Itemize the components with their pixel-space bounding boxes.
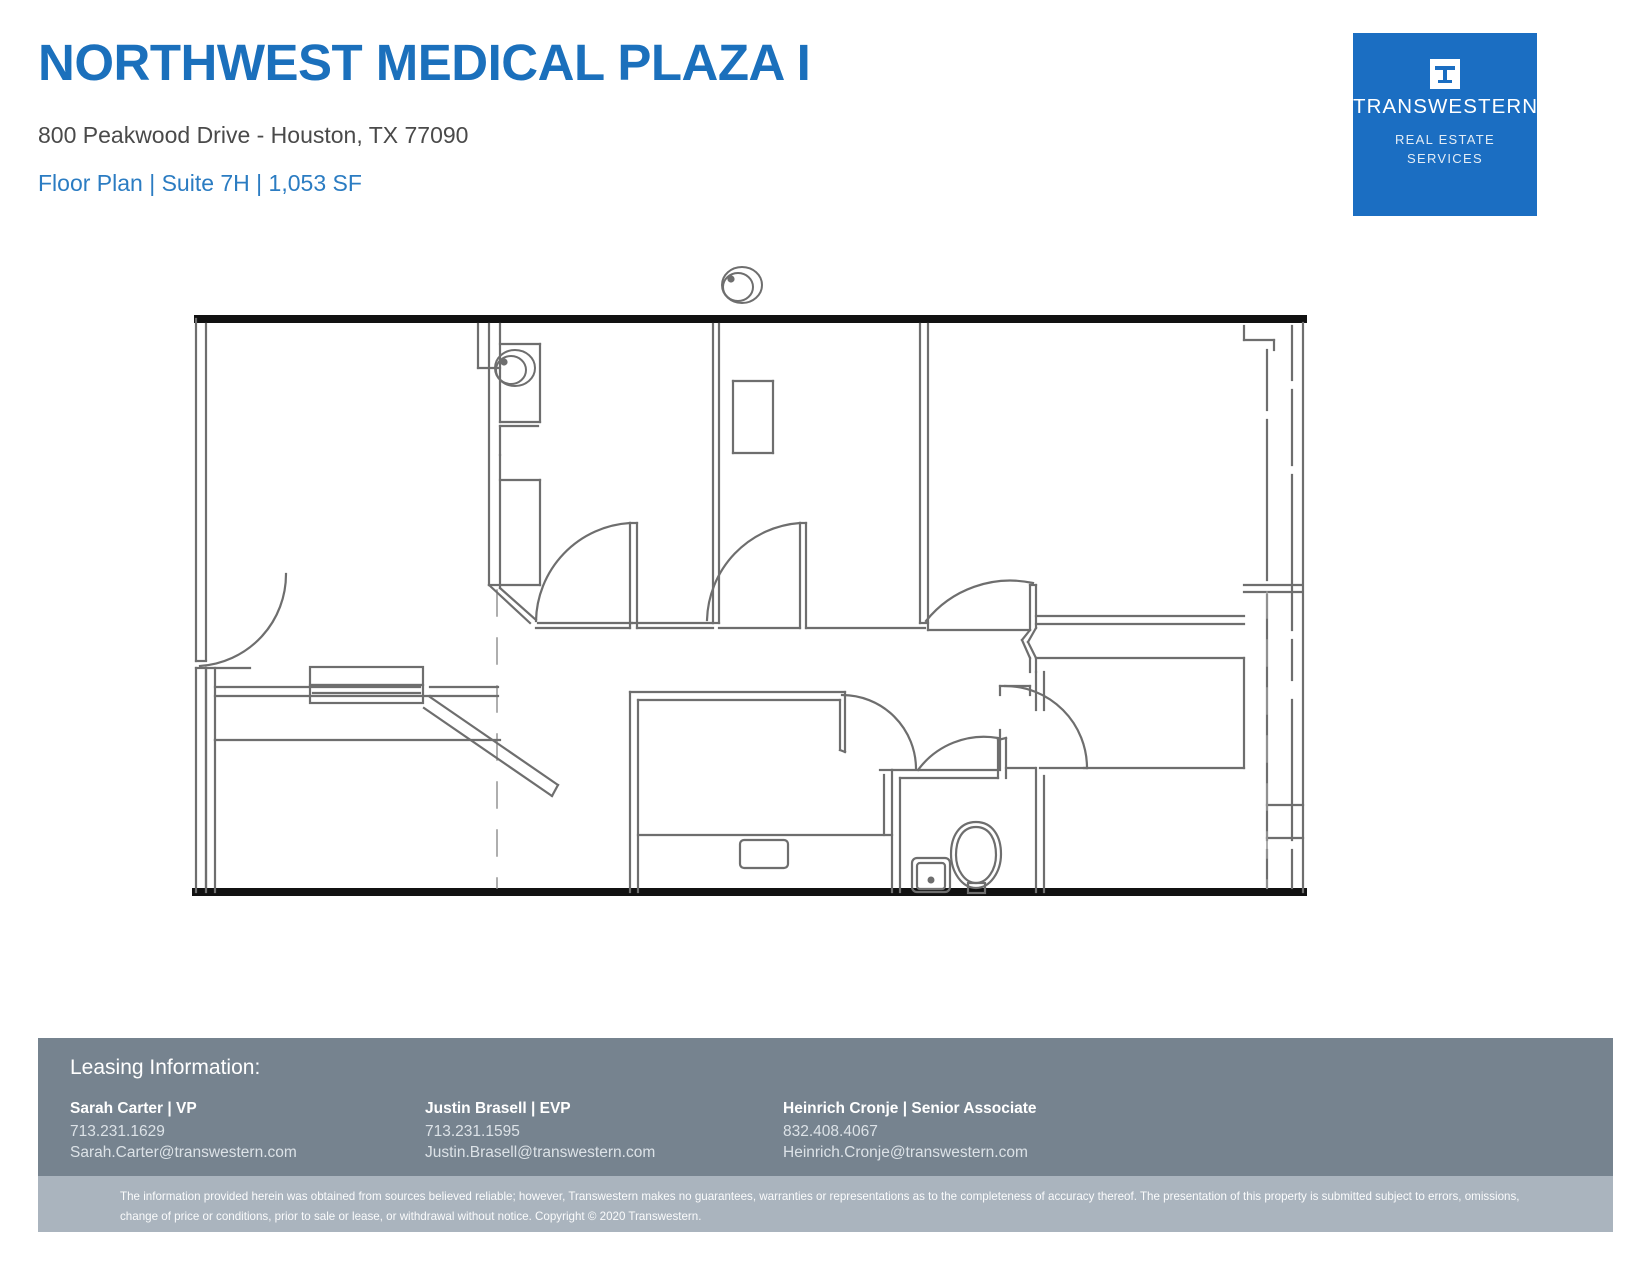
contact-phone[interactable]: 713.231.1629: [70, 1123, 297, 1141]
room-center-right: [920, 324, 1244, 672]
building-address: 800 Peakwood Drive - Houston, TX 77090: [38, 122, 468, 149]
transwestern-t-mark-icon: [1430, 59, 1460, 89]
contact-card-0: Sarah Carter | VP 713.231.1629 Sarah.Car…: [70, 1100, 297, 1162]
door-exam-a-swing: [536, 523, 630, 621]
logo-wordmark: TRANSWESTERN: [1353, 95, 1537, 119]
page-title: NORTHWEST MEDICAL PLAZA I: [38, 36, 810, 90]
floor-plan-svg: [0, 240, 1651, 960]
door-restroom-swing: [918, 737, 998, 770]
disclaimer-bar: The information provided herein was obta…: [38, 1176, 1613, 1232]
room-restroom: [880, 730, 1044, 892]
room-upper-left-casework: [478, 324, 540, 623]
contact-phone[interactable]: 832.408.4067: [783, 1123, 1037, 1141]
room-exam-a: [536, 523, 713, 628]
transwestern-logo: TRANSWESTERN REAL ESTATE SERVICES: [1353, 33, 1537, 216]
door-corridor-angled-leaf: [424, 697, 558, 796]
room-exam-b: [713, 324, 925, 628]
structural-walls: [196, 319, 1303, 892]
leasing-heading: Leasing Information:: [70, 1056, 260, 1080]
counter-left-fixture: [310, 667, 423, 703]
grid-centerlines: [497, 590, 1267, 888]
exterior-right-wall: [1244, 323, 1303, 892]
contact-email[interactable]: Sarah.Carter@transwestern.com: [70, 1144, 297, 1162]
logo-tagline: REAL ESTATE SERVICES: [1353, 131, 1537, 169]
leasing-information-footer: Leasing Information: Sarah Carter | VP 7…: [38, 1038, 1613, 1176]
cabinet-lower-center-fixture: [740, 840, 788, 868]
disclaimer-text: The information provided herein was obta…: [120, 1187, 1540, 1228]
door-suite-entry-swing: [926, 581, 1033, 621]
plan-subtitle: Floor Plan | Suite 7H | 1,053 SF: [38, 170, 362, 197]
logo-tagline-line1: REAL ESTATE: [1353, 131, 1537, 150]
contact-name: Sarah Carter | VP: [70, 1100, 297, 1118]
sink-upper-center-fixture: [722, 267, 762, 303]
door-exam-b-swing: [707, 523, 800, 620]
page-header: NORTHWEST MEDICAL PLAZA I 800 Peakwood D…: [0, 0, 1651, 240]
door-restroom-outer-swing: [1005, 686, 1087, 768]
exterior-left-wall: [196, 319, 206, 892]
contact-name: Heinrich Cronje | Senior Associate: [783, 1100, 1037, 1118]
contact-email[interactable]: Heinrich.Cronje@transwestern.com: [783, 1144, 1037, 1162]
contact-email[interactable]: Justin.Brasell@transwestern.com: [425, 1144, 655, 1162]
logo-tagline-line2: SERVICES: [1353, 150, 1537, 169]
door-office-right-swing: [842, 695, 916, 769]
lavatory-fixture: [912, 858, 950, 892]
toilet-fixture: [951, 822, 1001, 893]
room-bottom-center: [630, 692, 892, 960]
contact-card-2: Heinrich Cronje | Senior Associate 832.4…: [783, 1100, 1037, 1162]
floor-plan-drawing: [0, 240, 1651, 960]
contact-phone[interactable]: 713.231.1595: [425, 1123, 655, 1141]
contact-card-1: Justin Brasell | EVP 713.231.1595 Justin…: [425, 1100, 655, 1162]
door-entry-left-swing: [200, 574, 286, 666]
contact-name: Justin Brasell | EVP: [425, 1100, 655, 1118]
corridor-left: [206, 668, 500, 892]
